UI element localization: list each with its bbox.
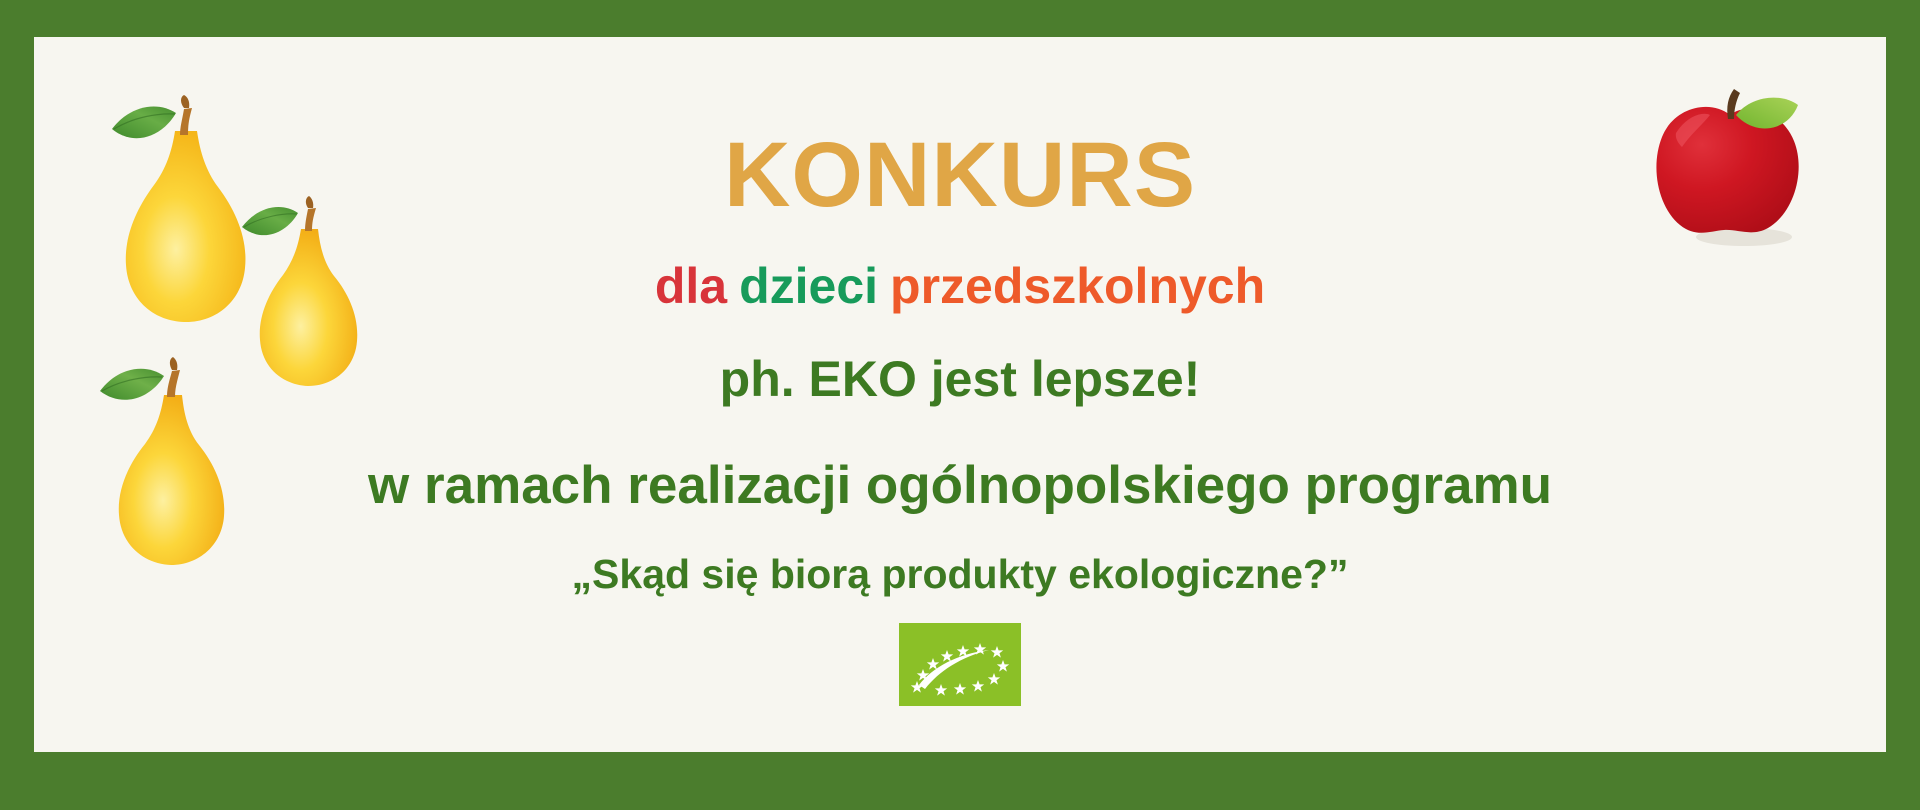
poster-canvas: KONKURS dladzieciprzedszkolnych ph. EKO … <box>34 37 1886 752</box>
program-line: w ramach realizacji ogólnopolskiego prog… <box>34 459 1886 512</box>
motto-line: ph. EKO jest lepsze! <box>34 354 1886 404</box>
eu-organic-euro-leaf-logo <box>899 623 1021 706</box>
subtitle-word-dzieci: dzieci <box>739 258 878 314</box>
subtitle-word-dla: dla <box>655 258 727 314</box>
page-title: KONKURS <box>34 129 1886 221</box>
subtitle-line: dladzieciprzedszkolnych <box>34 261 1886 311</box>
poster-text-column: KONKURS dladzieciprzedszkolnych ph. EKO … <box>34 37 1886 706</box>
program-quote-line: „Skąd się biorą produkty ekologiczne?” <box>34 554 1886 595</box>
eu-organic-logo-wrap <box>34 623 1886 706</box>
subtitle-word-przedszkolnych: przedszkolnych <box>890 258 1265 314</box>
poster-frame: KONKURS dladzieciprzedszkolnych ph. EKO … <box>0 0 1920 810</box>
